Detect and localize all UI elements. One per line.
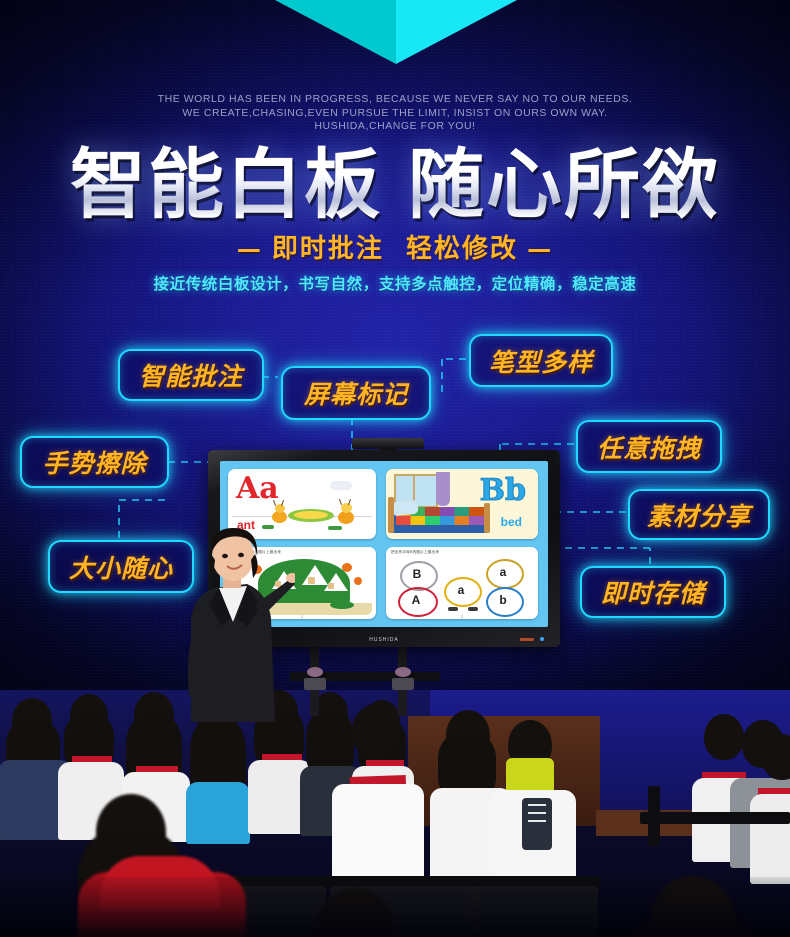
panel4-letter-B: B xyxy=(400,561,434,587)
feature-chip[interactable]: 智能批注 xyxy=(118,349,264,401)
whiteboard-panel-bb[interactable]: Bb bed xyxy=(386,469,538,539)
feature-chip[interactable]: 手势擦除 xyxy=(20,436,169,488)
slogan-line-3: HUSHIDA,CHANGE FOR YOU! xyxy=(0,120,790,134)
slogan-line-2: WE CREATE,CHASING,EVEN PURSUE THE LIMIT,… xyxy=(0,107,790,121)
panel4-letter-b: b xyxy=(486,587,520,613)
feature-chip[interactable]: 笔型多样 xyxy=(469,334,613,387)
feature-chip[interactable]: 任意拖拽 xyxy=(576,420,722,473)
mobile-tv-stand xyxy=(290,646,480,736)
feature-chip-label: 大小随心 xyxy=(69,549,173,585)
dash-left: — xyxy=(228,235,272,263)
subtitle-part-2: 轻松修改 xyxy=(406,234,518,264)
ir-strip xyxy=(520,638,534,641)
feature-chip-label: 笔型多样 xyxy=(489,343,593,379)
panel4-caption: 把含有字母B的图片上圈出来 xyxy=(391,550,439,555)
panel4-letter-a1: a xyxy=(486,559,520,585)
page-title: 智能白板随心所欲 xyxy=(0,143,790,227)
title-part-1: 智能白板 xyxy=(70,140,382,229)
title-part-2: 随心所欲 xyxy=(408,140,720,229)
feature-chip[interactable]: 素材分享 xyxy=(628,489,770,540)
feature-chip-label: 屏幕标记 xyxy=(304,375,408,411)
cyan-chevron-icon xyxy=(0,0,790,70)
panel-word-bed: bed xyxy=(501,515,522,529)
panel3-page: 1 xyxy=(301,614,303,619)
panel4-letter-a2: a xyxy=(444,577,478,603)
slogan-line-1: THE WORLD HAS BEEN IN PROGRESS, BECAUSE … xyxy=(0,93,790,107)
power-led xyxy=(540,637,544,641)
camera-bar xyxy=(352,438,424,449)
feature-chip-label: 素材分享 xyxy=(647,497,751,533)
subtitle-part-1: 即时批注 xyxy=(272,234,384,264)
page-subtitle: —即时批注 轻松修改— xyxy=(0,228,790,265)
panel4-page: 2 xyxy=(461,614,463,619)
feature-chip[interactable]: 屏幕标记 xyxy=(281,366,431,420)
english-slogan: THE WORLD HAS BEEN IN PROGRESS, BECAUSE … xyxy=(0,93,790,134)
feature-chip-label: 即时存储 xyxy=(601,574,705,610)
page-tagline: 接近传统白板设计，书写自然，支持多点触控，定位精确，稳定高速 xyxy=(0,272,790,294)
panel4-letter-A: A xyxy=(398,587,434,613)
feature-chip[interactable]: 大小随心 xyxy=(48,540,194,593)
promo-page: THE WORLD HAS BEEN IN PROGRESS, BECAUSE … xyxy=(0,0,790,937)
feature-chip-label: 任意拖拽 xyxy=(597,429,701,465)
feature-chip[interactable]: 即时存储 xyxy=(580,566,726,618)
feature-chip-label: 智能批注 xyxy=(139,357,243,393)
whiteboard-panel-letters[interactable]: 把含有字母B的图片上圈出来 B a a A b 2 xyxy=(386,547,538,619)
dash-right: — xyxy=(518,235,562,263)
feature-chip-label: 手势擦除 xyxy=(42,444,146,480)
